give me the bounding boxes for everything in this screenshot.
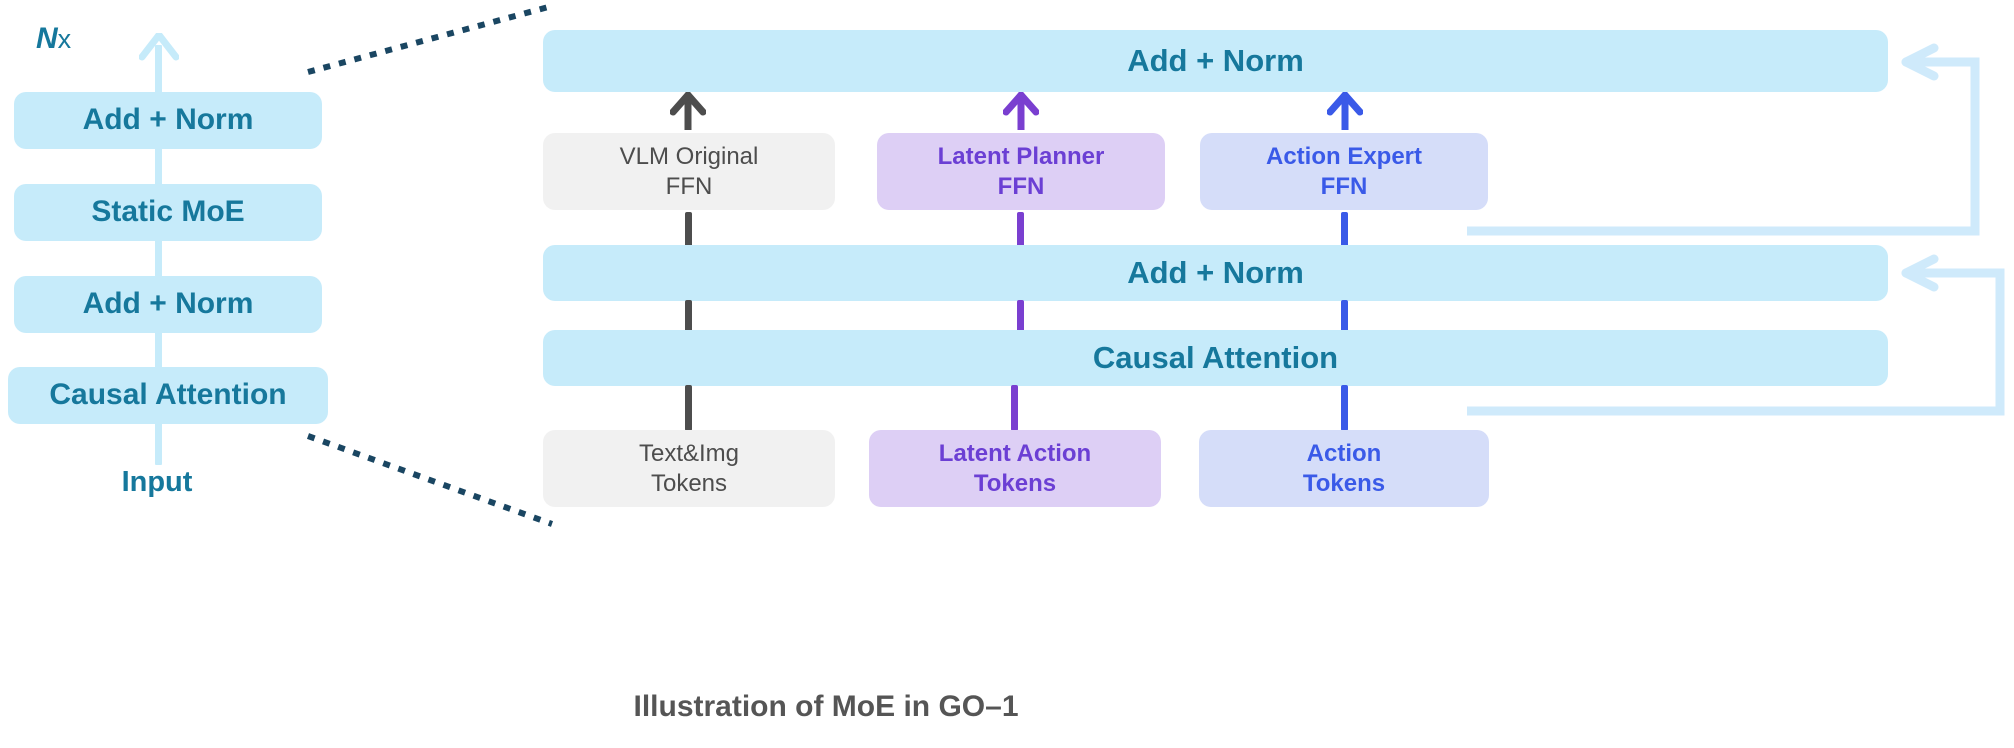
left-connector-1 — [155, 45, 162, 95]
ffn-latent-label: Latent Planner FFN — [938, 142, 1105, 201]
connector-latent-addnorm-to-attn — [1017, 300, 1024, 332]
right-block-add-norm-top: Add + Norm — [543, 30, 1888, 92]
connector-action-ffn-to-addnorm — [1341, 212, 1348, 247]
ffn-block-action-expert: Action Expert FFN — [1200, 133, 1488, 210]
connector-action-addnorm-to-attn — [1341, 300, 1348, 332]
input-label: Input — [92, 466, 222, 499]
left-connector-4 — [155, 332, 162, 370]
left-block-add-norm-bottom: Add + Norm — [14, 276, 322, 333]
left-connector-3 — [155, 240, 162, 278]
right-block-causal-attention: Causal Attention — [543, 330, 1888, 386]
token-block-text-img: Text&Img Tokens — [543, 430, 835, 507]
ffn-block-latent-planner: Latent Planner FFN — [877, 133, 1165, 210]
left-connector-5 — [155, 423, 162, 465]
ffn-vlm-label: VLM Original FFN — [620, 142, 759, 201]
repeat-count-n: N — [36, 22, 58, 55]
connector-action-tokens-to-attn — [1341, 385, 1348, 431]
repeat-count-label: Nx — [36, 22, 71, 56]
left-block-static-moe: Static MoE — [14, 184, 322, 241]
connector-vlm-ffn-to-addnorm — [685, 212, 692, 247]
token-latent-label: Latent Action Tokens — [939, 439, 1091, 498]
left-block-causal-attention: Causal Attention — [8, 367, 328, 424]
arrow-up-latent-icon — [1003, 92, 1039, 132]
right-block-add-norm-mid: Add + Norm — [543, 245, 1888, 301]
token-action-label: Action Tokens — [1303, 439, 1385, 498]
connector-text-tokens-to-attn — [685, 385, 692, 431]
dotted-connector-top — [300, 0, 560, 80]
ffn-action-label: Action Expert FFN — [1266, 142, 1422, 201]
ffn-block-vlm-original: VLM Original FFN — [543, 133, 835, 210]
left-connector-2 — [155, 148, 162, 186]
arrow-up-action-icon — [1327, 92, 1363, 132]
connector-latent-ffn-to-addnorm — [1017, 212, 1024, 247]
arrow-up-vlm-icon — [670, 92, 706, 132]
token-block-action: Action Tokens — [1199, 430, 1489, 507]
token-text-label: Text&Img Tokens — [639, 439, 739, 498]
connector-latent-tokens-to-attn — [1011, 385, 1018, 431]
token-block-latent-action: Latent Action Tokens — [869, 430, 1161, 507]
figure-caption: Illustration of MoE in GO–1 — [606, 690, 1046, 724]
connector-vlm-addnorm-to-attn — [685, 300, 692, 332]
dotted-connector-bottom — [300, 430, 560, 530]
left-block-add-norm-top: Add + Norm — [14, 92, 322, 149]
moe-architecture-diagram: Nx Add + Norm Static MoE Add + Norm Caus… — [0, 0, 2014, 748]
repeat-count-x: x — [58, 24, 72, 54]
